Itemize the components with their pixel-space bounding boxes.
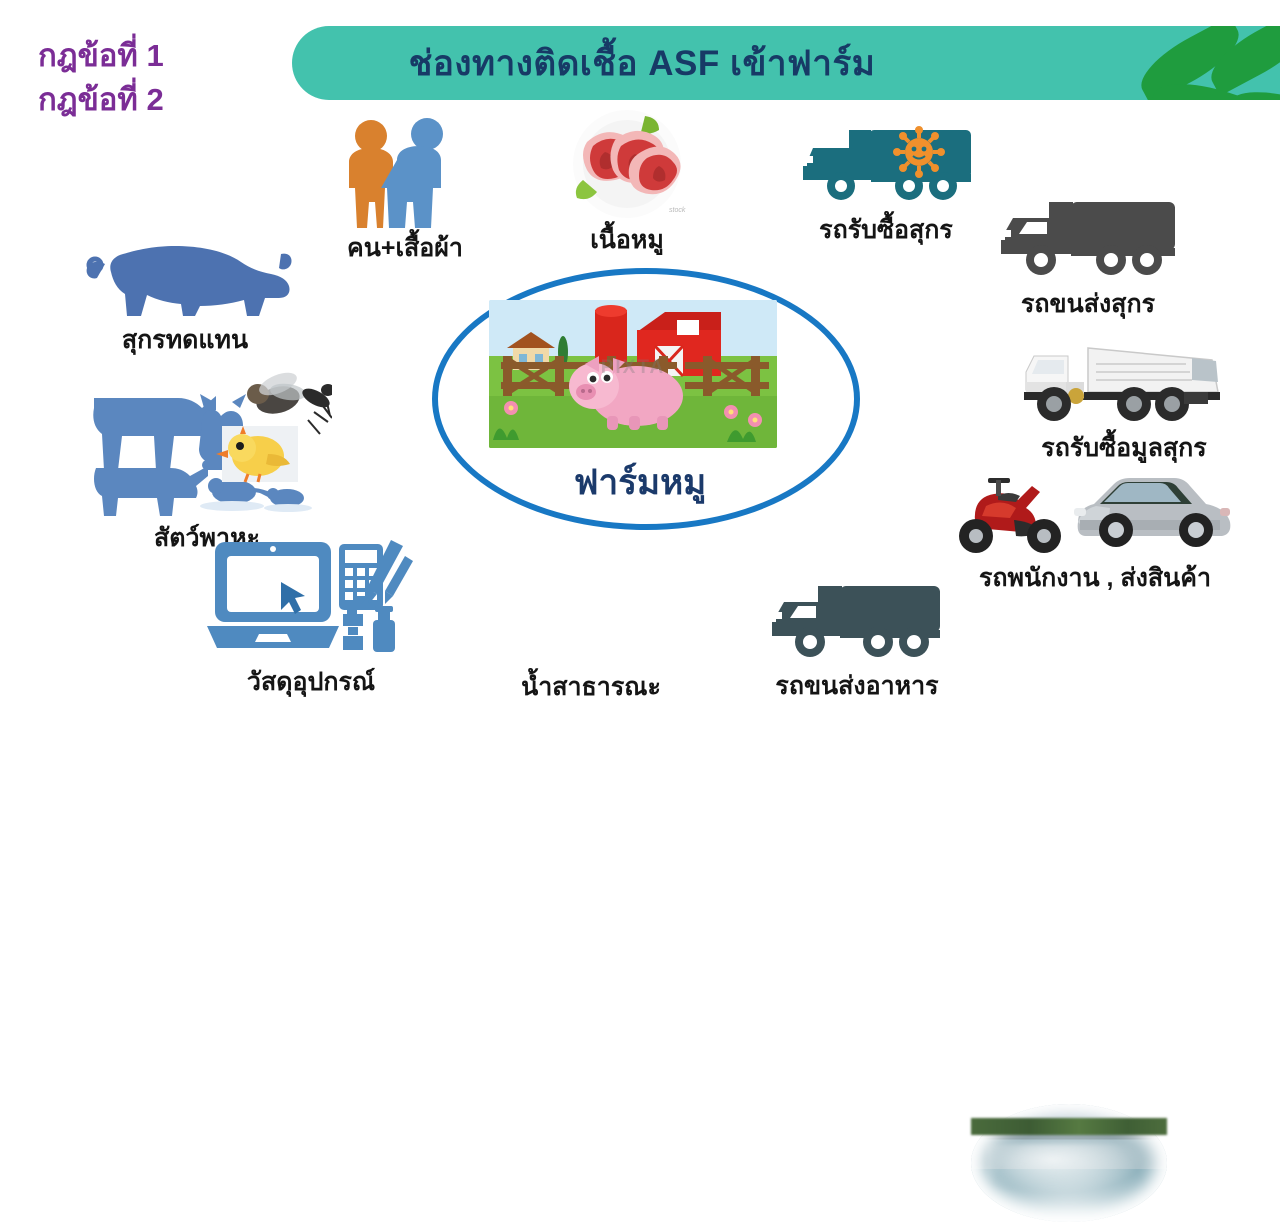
item-pork-meat[interactable]: stock เนื้อหมู (552, 108, 702, 255)
scooter-car-icon (940, 466, 1250, 563)
title-banner: ช่องทางติดเชื้อ ASF เข้าฟาร์ม (292, 26, 1280, 100)
rule-item-1: กฎข้อที่ 1 (38, 34, 268, 78)
item-label: เนื้อหมู (590, 227, 664, 255)
pond-treeline (971, 1118, 1167, 1135)
item-label: รถขนส่งสุกร (1021, 291, 1155, 319)
item-feed-truck[interactable]: รถขนส่งอาหาร (752, 582, 962, 701)
farm-scene-illustration: PIXTA (489, 300, 777, 448)
pork-plate-icon: stock (561, 108, 693, 225)
item-equipment[interactable]: วัสดุอุปกรณ์ (196, 534, 426, 697)
svg-text:stock: stock (669, 207, 686, 214)
pond-photo (971, 1104, 1167, 1222)
item-label: รถรับซื้อสุกร (819, 217, 953, 245)
item-replacement-pigs[interactable]: สุกรทดแทน (60, 228, 310, 355)
item-staff-vehicles[interactable]: รถพนักงาน , ส่งสินค้า (930, 466, 1260, 593)
pond-photo-icon (478, 548, 704, 672)
item-label: คน+เสื้อผ้า (347, 235, 463, 263)
item-people-clothing[interactable]: คน+เสื้อผ้า (310, 118, 500, 263)
item-label: รถพนักงาน , ส่งสินค้า (979, 565, 1211, 593)
truck-virus-icon (797, 126, 975, 215)
item-label: รถรับซื้อมูลสุกร (1041, 435, 1206, 463)
item-label: วัสดุอุปกรณ์ (247, 669, 375, 697)
pond-reflection (987, 1144, 1152, 1196)
item-vector-animals[interactable]: สัตว์พาหะ (72, 368, 342, 553)
rule-item-2: กฎข้อที่ 2 (38, 78, 268, 122)
truck-box-icon (993, 198, 1183, 289)
item-pig-buy-truck[interactable]: รถรับซื้อสุกร (786, 126, 986, 245)
animal-vectors-icon (82, 368, 332, 523)
feed-truck-icon (764, 582, 950, 671)
item-manure-truck[interactable]: รถรับซื้อมูลสุกร (1004, 336, 1244, 463)
dump-truck-icon (1016, 336, 1232, 433)
item-public-water[interactable]: น้ำสาธารณะ (478, 548, 704, 702)
two-people-icon (331, 118, 479, 233)
item-label: สุกรทดแทน (122, 327, 248, 355)
pig-silhouette-icon (75, 228, 295, 325)
rule-list: กฎข้อที่ 1 กฎข้อที่ 2 (38, 34, 268, 122)
infographic-canvas: ช่องทางติดเชื้อ ASF เข้าฟาร์ม กฎข้อที่ 1… (0, 0, 1280, 720)
page-title: ช่องทางติดเชื้อ ASF เข้าฟาร์ม (292, 26, 992, 100)
item-label: รถขนส่งอาหาร (775, 673, 938, 701)
item-pig-transport[interactable]: รถขนส่งสุกร (978, 198, 1198, 319)
farm-scene-svg (489, 300, 777, 448)
laptop-supplies-icon (207, 534, 415, 667)
center-label: ฟาร์มหมู (432, 455, 848, 510)
item-label: น้ำสาธารณะ (521, 674, 661, 702)
